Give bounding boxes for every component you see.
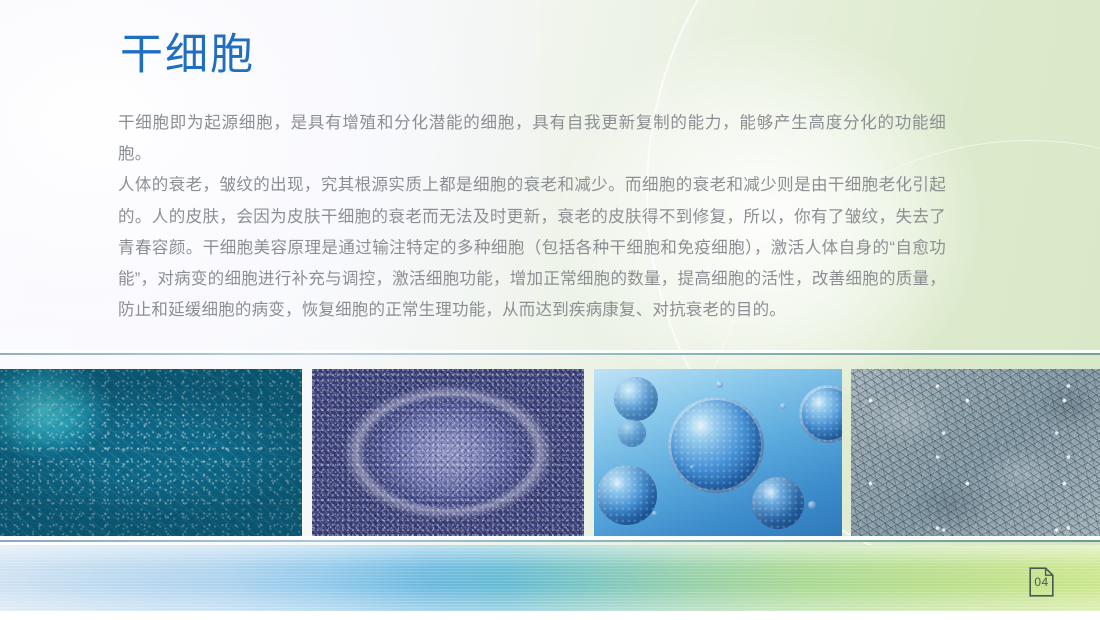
gallery-image-3 <box>594 369 842 536</box>
teal-colony-vignette <box>0 369 302 536</box>
page-number-text: 04 <box>1029 567 1054 597</box>
page-title: 干细胞 <box>120 30 255 81</box>
image-gallery <box>0 369 1100 536</box>
page-number-badge: 04 <box>1029 567 1054 597</box>
particle-dot-3 <box>652 511 657 516</box>
purple-colony-edge <box>312 369 584 536</box>
body-paragraph-1: 干细胞即为起源细胞，是具有增殖和分化潜能的细胞，具有自我更新复制的能力，能够产生… <box>118 108 946 170</box>
body-paragraph-2: 人体的衰老，皱纹的出现，究其根源实质上都是细胞的衰老和减少。而细胞的衰老和减少则… <box>118 170 946 326</box>
particle-dot-2 <box>780 403 786 409</box>
cell-sphere-topleft <box>614 377 658 421</box>
footer-sheen <box>0 545 1100 611</box>
particle-dot-5 <box>690 465 694 469</box>
divider-rule <box>0 353 1100 355</box>
cell-sphere-small-left <box>618 419 646 447</box>
fibroblast-bright-cells <box>851 369 1100 536</box>
cell-sphere-main <box>668 397 764 493</box>
footer-divider-rule <box>0 540 1100 542</box>
gallery-image-2 <box>312 369 584 536</box>
gallery-image-1 <box>0 369 302 536</box>
cell-sphere-left <box>597 465 657 525</box>
slide-root: 干细胞 干细胞即为起源细胞，是具有增殖和分化潜能的细胞，具有自我更新复制的能力，… <box>0 0 1100 620</box>
cell-sphere-lower-right <box>752 477 804 529</box>
particle-dot-4 <box>808 501 816 509</box>
gallery-top-divider <box>0 350 1100 360</box>
gallery-image-4 <box>851 369 1100 536</box>
body-text-block: 干细胞即为起源细胞，是具有增殖和分化潜能的细胞，具有自我更新复制的能力，能够产生… <box>118 108 946 326</box>
particle-dot-1 <box>716 381 723 388</box>
footer-bottom-edge <box>0 611 1100 620</box>
